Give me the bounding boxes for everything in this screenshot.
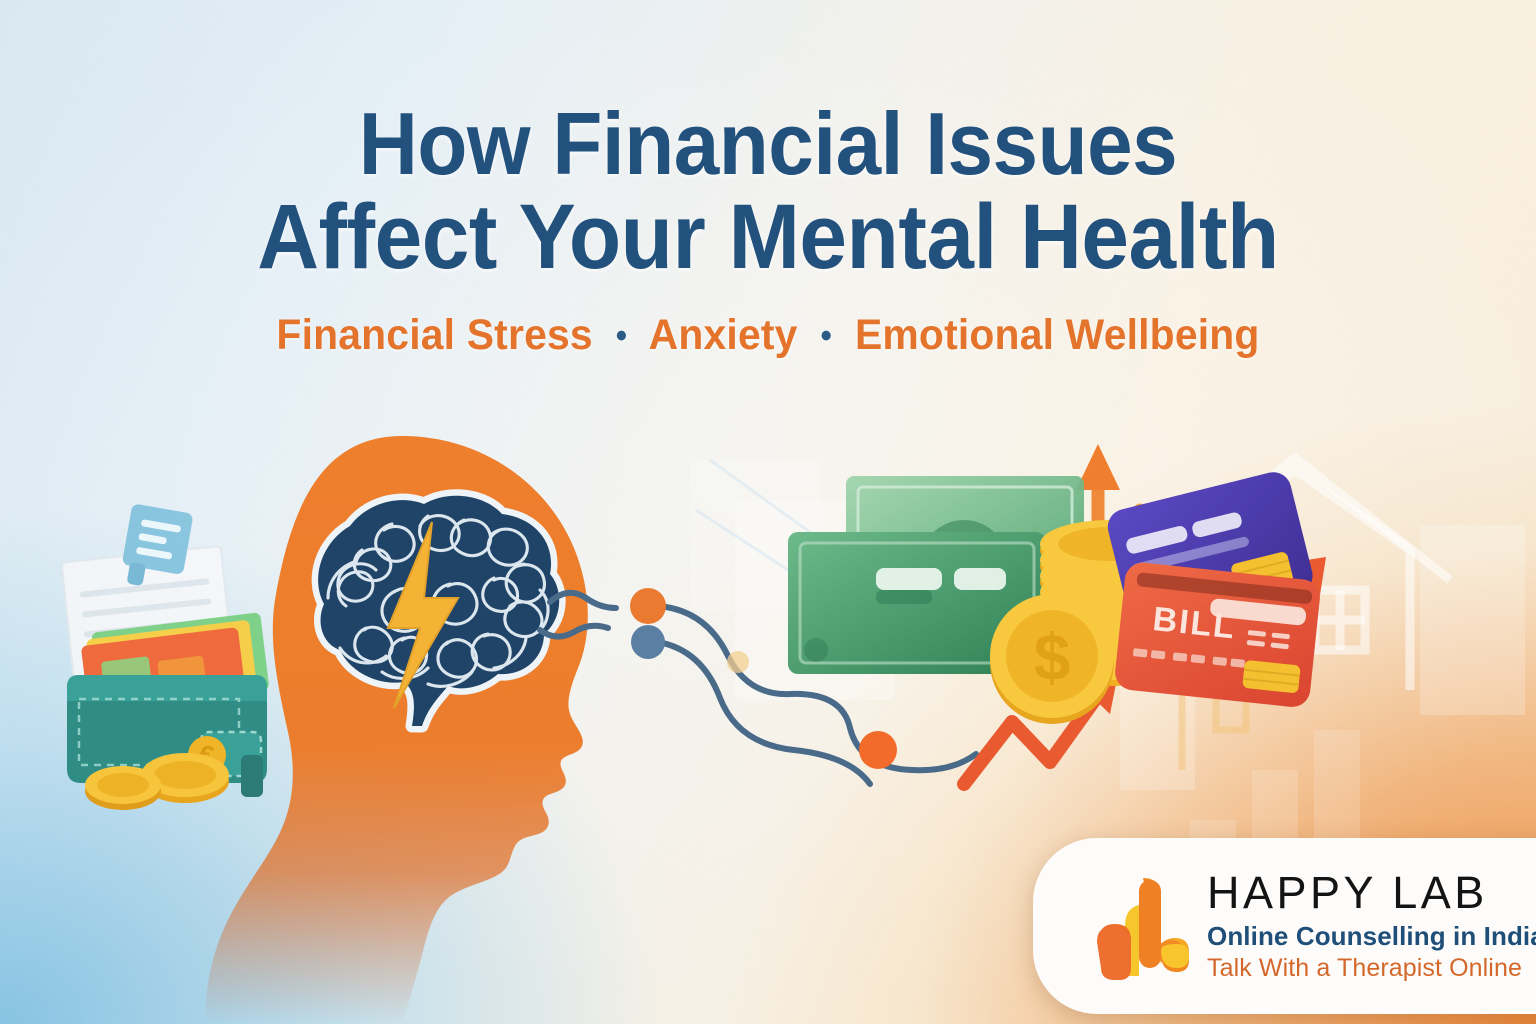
keyword-financial-stress: Financial Stress bbox=[276, 311, 592, 359]
headline-line-2: Affect Your Mental Health bbox=[54, 190, 1482, 286]
bullet-separator-2: • bbox=[809, 317, 843, 355]
keyword-emotional-wellbeing: Emotional Wellbeing bbox=[855, 311, 1260, 359]
money-and-cards-illustration: $ BILL bbox=[780, 430, 1320, 730]
subtitle-keywords: Financial Stress • Anxiety • Emotional W… bbox=[38, 311, 1497, 360]
headline-line-1: How Financial Issues bbox=[359, 94, 1177, 193]
keyword-anxiety: Anxiety bbox=[649, 311, 798, 359]
headline-block: How Financial Issues Affect Your Mental … bbox=[0, 98, 1536, 360]
stress-node-faint bbox=[727, 651, 749, 673]
brand-subtagline: Talk With a Therapist Online bbox=[1207, 955, 1536, 983]
stress-node-orange-lower bbox=[859, 731, 897, 769]
poster-canvas: How Financial Issues Affect Your Mental … bbox=[0, 0, 1536, 1024]
brand-tagline: Online Counselling in India bbox=[1207, 922, 1536, 951]
stress-node-blue bbox=[631, 625, 665, 659]
page-title: How Financial Issues Affect Your Mental … bbox=[54, 98, 1482, 285]
bullet-separator-1: • bbox=[604, 317, 638, 355]
brand-text-block: HAPPY LAB Online Counselling in India Ta… bbox=[1207, 870, 1536, 982]
stress-node-orange bbox=[630, 588, 666, 624]
brand-name: HAPPY LAB bbox=[1207, 870, 1536, 915]
happy-lab-monogram bbox=[1081, 870, 1189, 982]
dollar-symbol: $ bbox=[1034, 620, 1071, 694]
brand-logo-card[interactable]: HAPPY LAB Online Counselling in India Ta… bbox=[1033, 838, 1536, 1014]
